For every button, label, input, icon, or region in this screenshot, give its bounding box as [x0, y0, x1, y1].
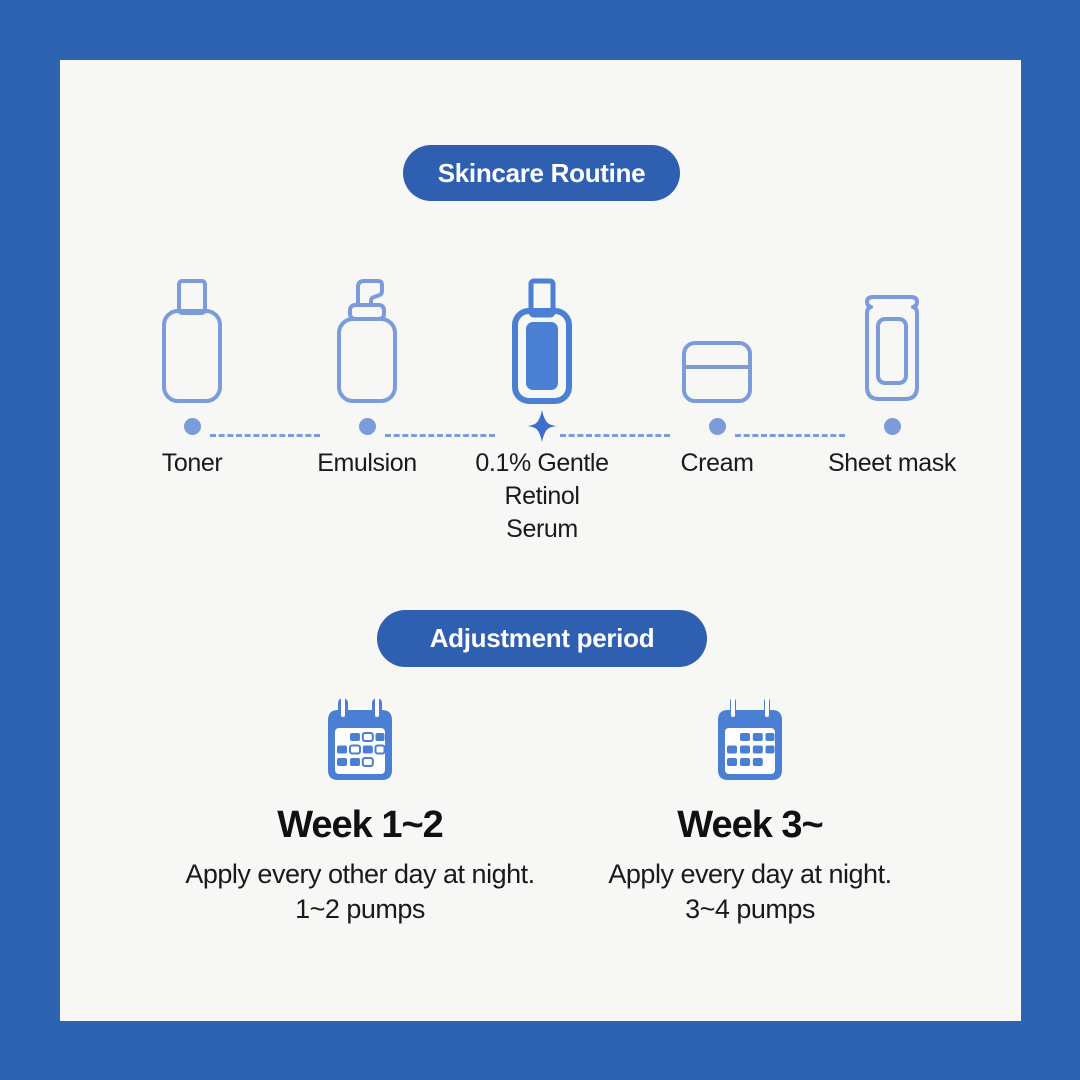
routine-step-cream: Cream	[642, 255, 792, 480]
sparkle-icon	[525, 409, 559, 443]
timeline-marker-toner	[117, 405, 267, 447]
routine-step-label: Sheet mask	[817, 447, 967, 480]
timeline-dot	[184, 418, 201, 435]
routine-steps: Toner Emulsion	[60, 255, 1021, 555]
routine-step-serum: 0.1% Gentle Retinol Serum	[467, 255, 617, 546]
timeline-marker-cream	[642, 405, 792, 447]
timeline-dot	[359, 418, 376, 435]
adjustment-card-line: 3~4 pumps	[540, 892, 960, 927]
adjustment-card-week-1-2: Week 1~2 Apply every other day at night.…	[150, 690, 570, 927]
routine-step-sheet-mask: Sheet mask	[817, 255, 967, 480]
adjustment-card-body: Apply every other day at night. 1~2 pump…	[150, 857, 570, 927]
sheet-mask-pouch-icon	[817, 255, 967, 405]
serum-bottle-icon	[467, 255, 617, 405]
routine-step-emulsion: Emulsion	[292, 255, 442, 480]
timeline-dot	[884, 418, 901, 435]
infographic-card: Skincare Routine Toner	[60, 60, 1021, 1021]
adjustment-card-week-3: Week 3~ Apply every day at night. 3~4 pu…	[540, 690, 960, 927]
timeline-marker-sheet-mask	[817, 405, 967, 447]
routine-step-label: 0.1% Gentle Retinol Serum	[467, 447, 617, 546]
calendar-alternate-days-icon	[150, 690, 570, 790]
cream-jar-icon	[642, 255, 792, 405]
emulsion-pump-bottle-icon	[292, 255, 442, 405]
adjustment-card-title: Week 1~2	[150, 804, 570, 847]
adjustment-card-line: 1~2 pumps	[150, 892, 570, 927]
timeline-dot	[709, 418, 726, 435]
adjustment-card-body: Apply every day at night. 3~4 pumps	[540, 857, 960, 927]
routine-step-label: Cream	[642, 447, 792, 480]
toner-bottle-icon	[117, 255, 267, 405]
timeline-marker-emulsion	[292, 405, 442, 447]
adjustment-card-line: Apply every other day at night.	[150, 857, 570, 892]
adjustment-card-title: Week 3~	[540, 804, 960, 847]
section-pill-skincare-routine: Skincare Routine	[403, 145, 680, 201]
routine-step-toner: Toner	[117, 255, 267, 480]
routine-step-label: Toner	[117, 447, 267, 480]
calendar-every-day-icon	[540, 690, 960, 790]
routine-step-label: Emulsion	[292, 447, 442, 480]
adjustment-card-line: Apply every day at night.	[540, 857, 960, 892]
timeline-marker-serum	[467, 405, 617, 447]
section-pill-adjustment-period: Adjustment period	[377, 610, 707, 667]
